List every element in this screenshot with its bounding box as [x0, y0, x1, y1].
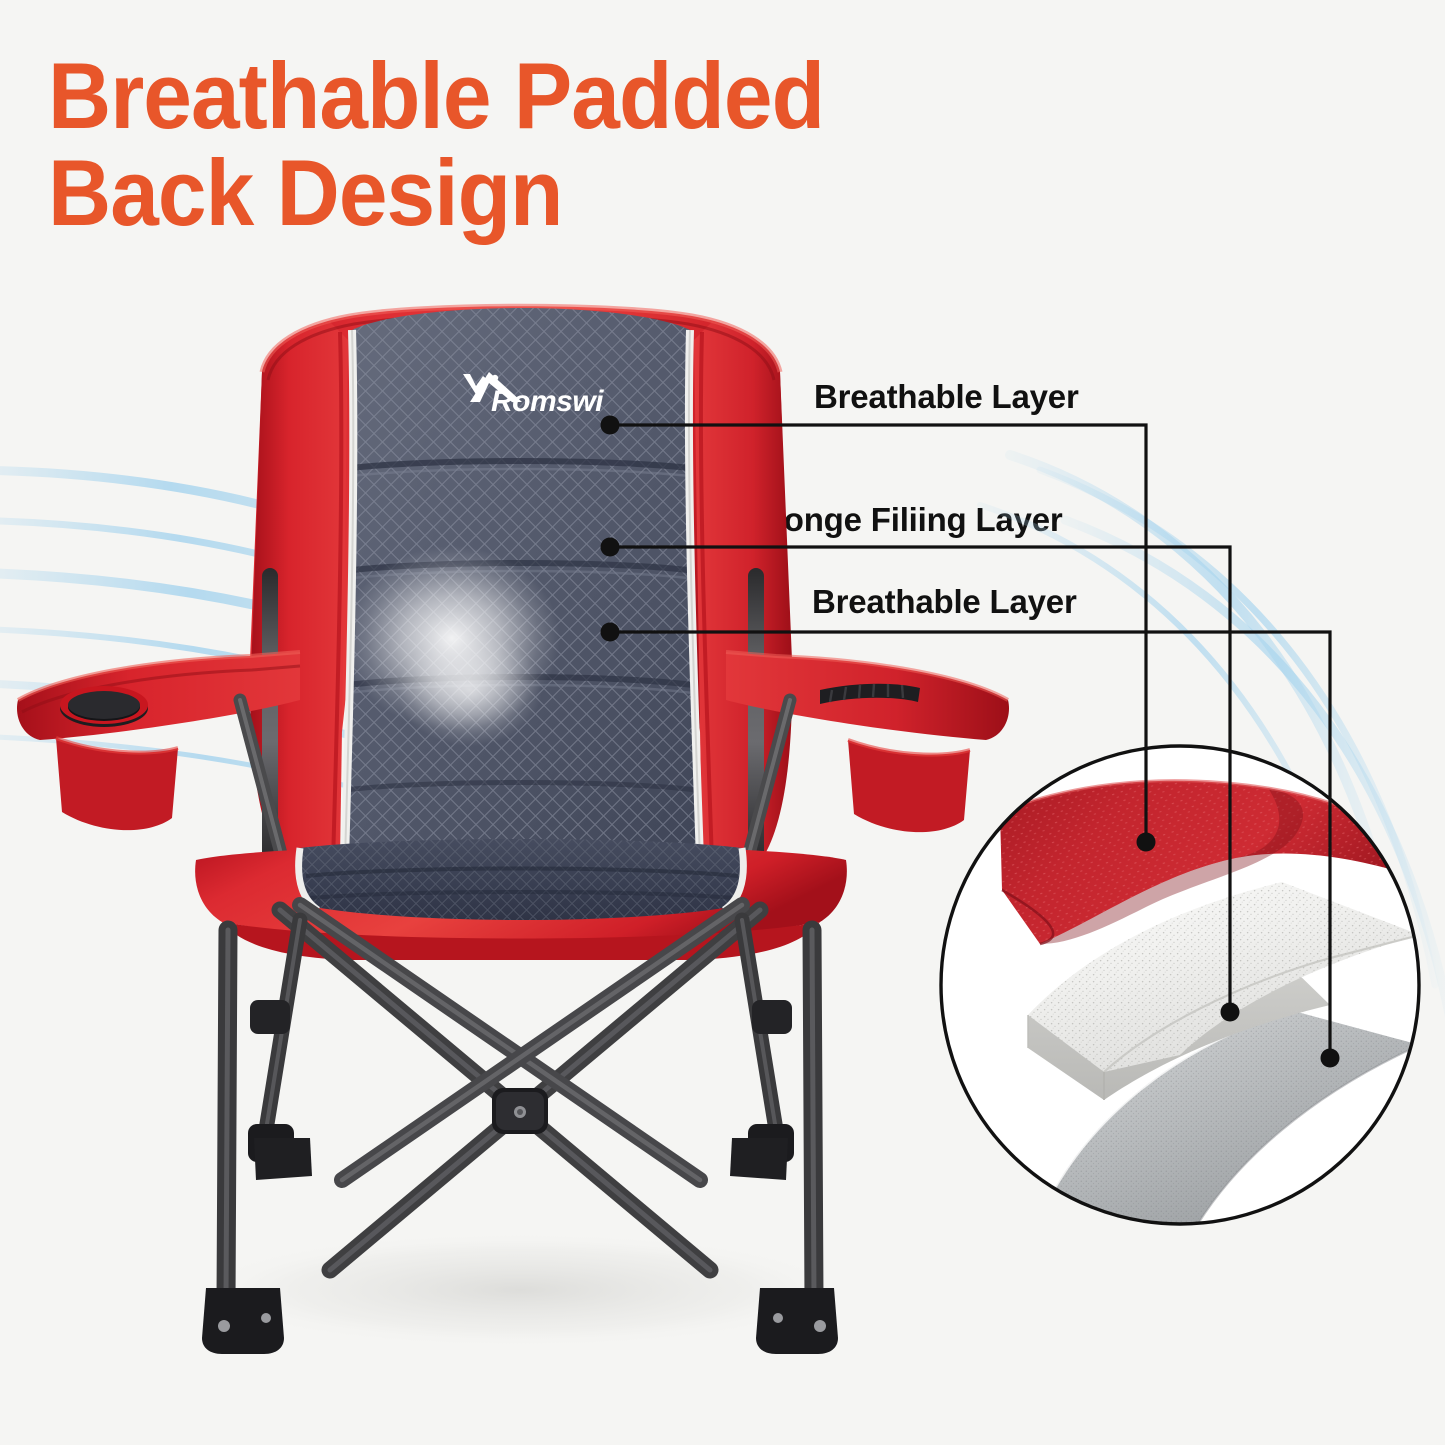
material-layers-detail-circle	[0, 0, 1445, 1445]
infographic-canvas: Romswi	[0, 0, 1445, 1445]
